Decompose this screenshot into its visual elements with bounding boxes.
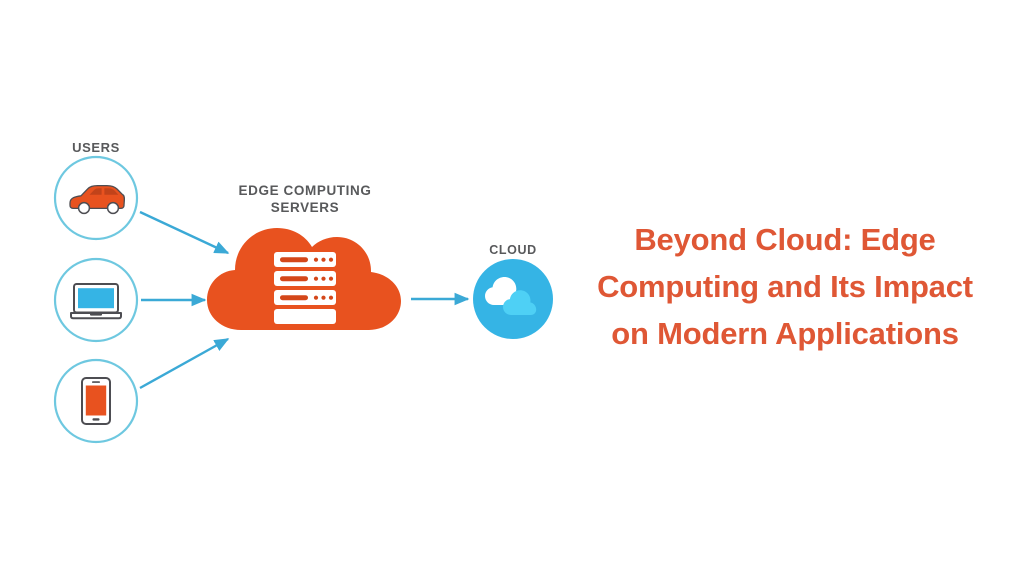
arrow-phone-to-edge [140, 339, 228, 388]
page-title-line-3: on Modern Applications [575, 310, 995, 357]
user-node-laptop[interactable] [55, 259, 137, 341]
arrow-car-to-edge [140, 212, 228, 253]
edge-computing-cloud-node[interactable] [207, 228, 401, 330]
cloud-node[interactable] [473, 259, 553, 339]
laptop-icon [71, 284, 121, 318]
page-title-line-2: Computing and Its Impact [575, 263, 995, 310]
slide-canvas: USERS [0, 0, 1024, 576]
user-node-phone[interactable] [55, 360, 137, 442]
phone-icon [82, 378, 110, 424]
edge-node-label-line1: EDGE COMPUTING [239, 183, 372, 198]
edge-node-label-line2: SERVERS [271, 200, 339, 215]
article-title-block: Beyond Cloud: Edge Computing and Its Imp… [575, 216, 995, 357]
rack-unit-blank [274, 309, 336, 324]
users-group-label: USERS [72, 140, 120, 155]
edge-computing-diagram: USERS [0, 0, 600, 576]
page-title: Beyond Cloud: Edge Computing and Its Imp… [575, 216, 995, 357]
page-title-line-1: Beyond Cloud: Edge [575, 216, 995, 263]
user-node-car[interactable] [55, 157, 137, 239]
cloud-node-label: CLOUD [489, 243, 536, 257]
